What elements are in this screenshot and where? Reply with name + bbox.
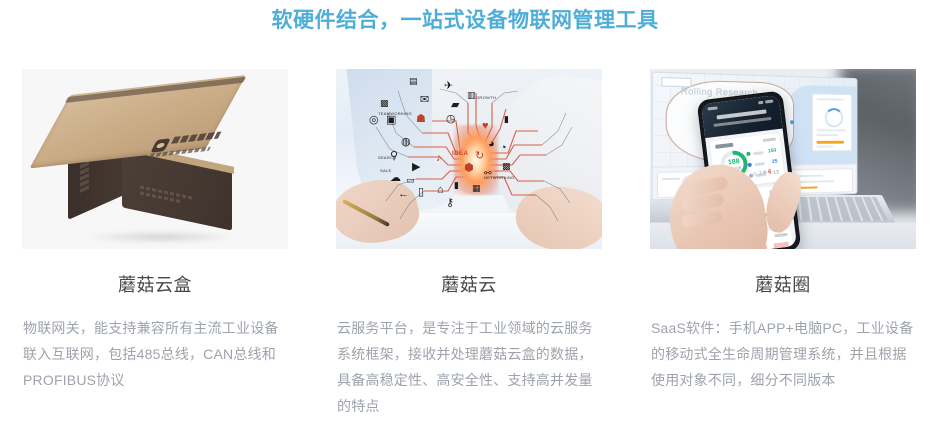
label-growth: GROWTH xyxy=(476,95,496,100)
card-description-mushroom-circle: SaaS软件：手机APP+电脑PC，工业设备的移动式全生命周期管理系统，并且根据… xyxy=(650,315,916,393)
heart-icon: ♥ xyxy=(482,121,489,132)
airplane-icon: ✈ xyxy=(444,81,453,92)
feature-card-mushroom-cloud[interactable]: IDEA ✈ ✉ ▤ ▩ ◎ ▰ ▥ ◷ ▣ ☗ ◍ ⚲ ▶ ☁ ▭ ▯ ← ⌂… xyxy=(336,69,602,419)
card-title-mushroom-circle: 蘑菇圈 xyxy=(650,273,916,297)
card-heading-bar xyxy=(715,143,733,149)
chart-bars-icon: ▥ xyxy=(467,91,476,100)
target-icon: ◎ xyxy=(369,115,379,126)
kpi-tickets: ◷ 工单 6 xyxy=(753,169,772,177)
gauge-icon: ◔ xyxy=(500,143,507,154)
idea-chip-label: IDEA xyxy=(452,151,468,157)
legend-item-offline: 25 xyxy=(747,157,778,169)
barcode-icon: ▦ xyxy=(472,184,481,193)
monitor-icon: ▭ xyxy=(406,176,415,185)
card-more-link[interactable] xyxy=(774,233,787,238)
cardboard-box-illustration xyxy=(62,95,250,227)
map-pin xyxy=(790,120,794,124)
legend-value-online: 150 xyxy=(768,147,777,154)
card-image-mushroom-circle: Rolling Research xyxy=(650,69,916,249)
battery-icon: ▮ xyxy=(504,115,509,124)
feature-card-mushroom-cloud-box[interactable]: 蘑菇云盒 物联网关，能支持兼容所有主流工业设备联入互联网，包括485总线，CAN… xyxy=(22,69,288,419)
map-side-panel xyxy=(812,93,852,151)
label-teamworking: TEAMWORKING xyxy=(378,111,412,116)
tile-chip-icon xyxy=(773,242,789,249)
key-icon: ⚷ xyxy=(446,198,454,209)
iot-concept-photo: IDEA ✈ ✉ ▤ ▩ ◎ ▰ ▥ ◷ ▣ ☗ ◍ ⚲ ▶ ☁ ▭ ▯ ← ⌂… xyxy=(336,69,602,249)
tablet-icon: ▯ xyxy=(418,187,424,198)
device-dashboard-photo: Rolling Research xyxy=(650,69,916,249)
card-title-mushroom-cloud: 蘑菇云 xyxy=(336,273,602,297)
user-badge-icon: ☗ xyxy=(416,114,426,125)
legend-label-online xyxy=(753,151,763,155)
grid-icon: ▩ xyxy=(502,162,511,171)
distribution-tile[interactable]: 传感器 xyxy=(772,242,792,249)
label-sale: SALE xyxy=(380,168,391,173)
film-icon: ▤ xyxy=(409,77,418,86)
arrow-left-icon: ← xyxy=(398,189,409,200)
person-icon: ▮ xyxy=(454,181,459,190)
legend-dot-online xyxy=(746,152,750,156)
shield-icon: ⬢ xyxy=(464,163,474,174)
card-description-mushroom-cloud-box: 物联网关，能支持兼容所有主流工业设备联入互联网，包括485总线，CAN总线和PR… xyxy=(22,315,288,393)
card-more-link[interactable] xyxy=(763,137,776,142)
legend-dot-offline xyxy=(748,163,752,167)
email-icon: ✉ xyxy=(420,95,429,106)
feature-card-list: 蘑菇云盒 物联网关，能支持兼容所有主流工业设备联入互联网，包括485总线，CAN… xyxy=(22,69,916,419)
panel-ring-chart xyxy=(825,108,843,127)
lightbulb-icon: ◍ xyxy=(401,137,411,148)
card-image-mushroom-cloud-box xyxy=(22,69,288,249)
kpi-tickets-value: 6 xyxy=(768,169,772,175)
legend-label-offline xyxy=(755,162,765,166)
home-icon: ⌂ xyxy=(437,185,444,196)
refresh-icon: ↻ xyxy=(475,151,484,162)
box-drop-shadow xyxy=(86,231,236,243)
card-image-mushroom-cloud: IDEA ✈ ✉ ▤ ▩ ◎ ▰ ▥ ◷ ▣ ☗ ◍ ⚲ ▶ ☁ ▭ ▯ ← ⌂… xyxy=(336,69,602,249)
clock-icon: ◷ xyxy=(446,114,456,125)
box-side-print xyxy=(80,161,89,193)
briefcase-icon: ▰ xyxy=(451,100,459,111)
label-networking: NETWORKING xyxy=(484,175,515,180)
label-search: SEARCH xyxy=(378,155,396,160)
legend-value-offline: 25 xyxy=(772,158,778,165)
presentation-icon: ▣ xyxy=(386,115,396,126)
card-description-mushroom-cloud: 云服务平台，是专注于工业领域的云服务系统框架，接收并处理蘑菇云盒的数据，具备高稳… xyxy=(336,315,602,419)
music-note-icon: ♪ xyxy=(436,153,442,164)
card-title-mushroom-cloud-box: 蘑菇云盒 xyxy=(22,273,288,297)
feature-card-mushroom-circle[interactable]: Rolling Research xyxy=(650,69,916,419)
legend-item-online: 150 xyxy=(746,147,777,159)
page-title: 软硬件结合，一站式设备物联网管理工具 xyxy=(0,7,930,35)
product-photo-backdrop xyxy=(22,69,288,249)
people-group-icon: ▩ xyxy=(380,99,389,108)
cloud-icon: ☁ xyxy=(390,173,401,184)
play-icon: ▶ xyxy=(412,162,420,173)
pie-chart-icon: ◕ xyxy=(488,139,495,150)
